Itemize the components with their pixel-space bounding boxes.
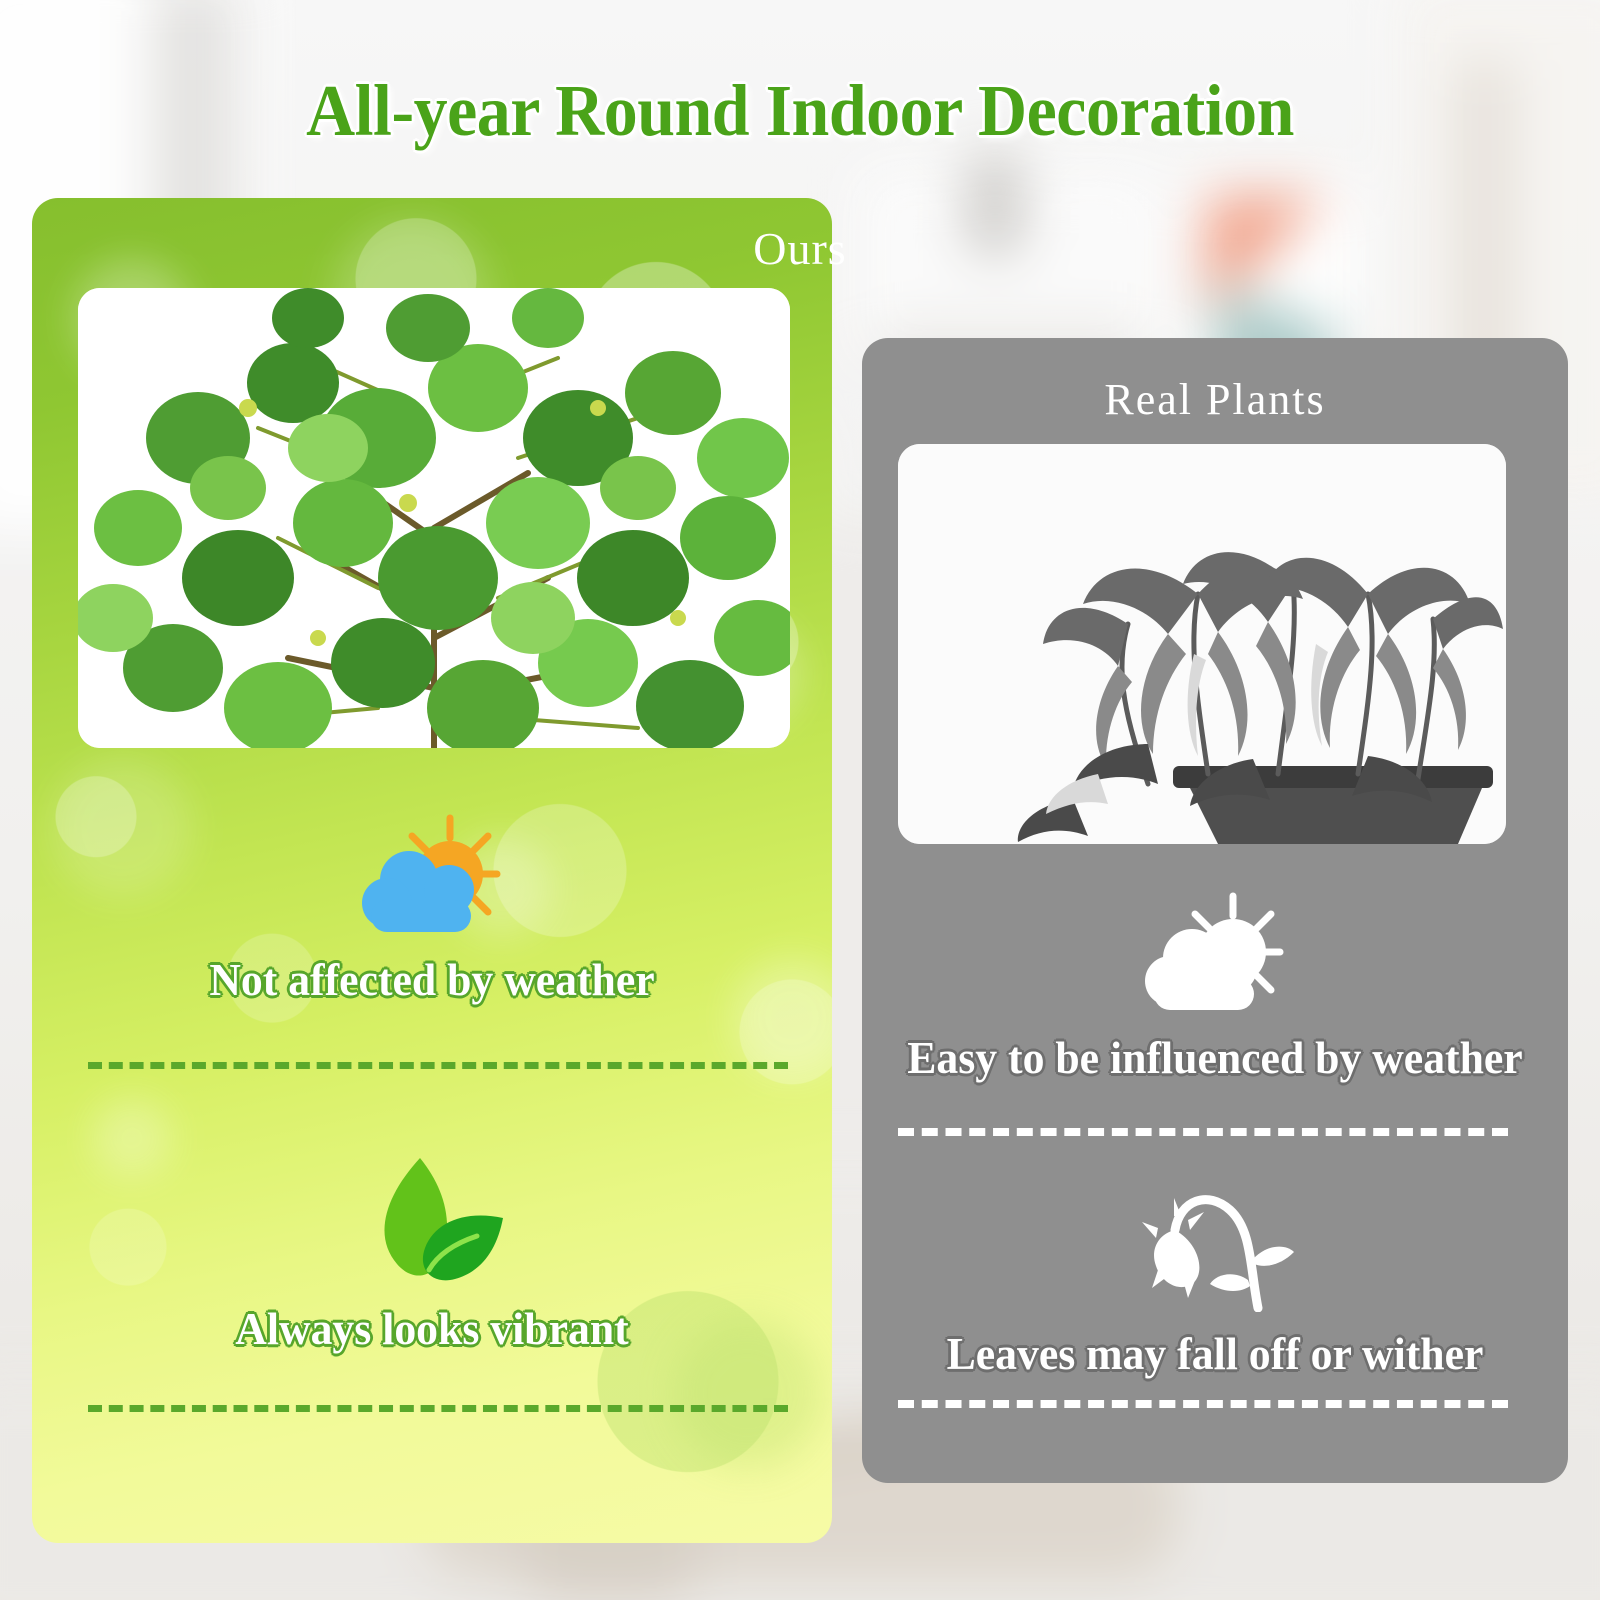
feature-ours-vibrant: Always looks vibrant	[32, 1152, 832, 1355]
page-title: All-year Round Indoor Decoration	[56, 74, 1544, 147]
feature-label: Always looks vibrant	[52, 1302, 812, 1355]
product-photo-real	[898, 444, 1506, 844]
product-photo-ours	[78, 288, 790, 748]
divider-real-2	[898, 1400, 1508, 1408]
divider-ours-2	[88, 1405, 788, 1412]
divider-ours-1	[88, 1062, 788, 1069]
wilting-flower-icon	[862, 1172, 1568, 1317]
sun-behind-cloud-icon	[862, 886, 1568, 1021]
feature-label: Leaves may fall off or wither	[880, 1327, 1551, 1380]
panel-heading-ours: Ours	[0, 226, 1600, 272]
divider-real-1	[898, 1128, 1508, 1136]
feature-real-wither: Leaves may fall off or wither	[862, 1172, 1568, 1380]
feature-real-weather: Easy to be influenced by weather	[862, 886, 1568, 1084]
feature-ours-weather: Not affected by weather	[32, 808, 832, 1006]
panel-heading-real: Real Plants	[862, 378, 1568, 422]
sun-behind-cloud-icon	[32, 808, 832, 943]
two-leaves-icon	[32, 1152, 832, 1292]
feature-label: Easy to be influenced by weather	[880, 1031, 1551, 1084]
feature-label: Not affected by weather	[52, 953, 812, 1006]
